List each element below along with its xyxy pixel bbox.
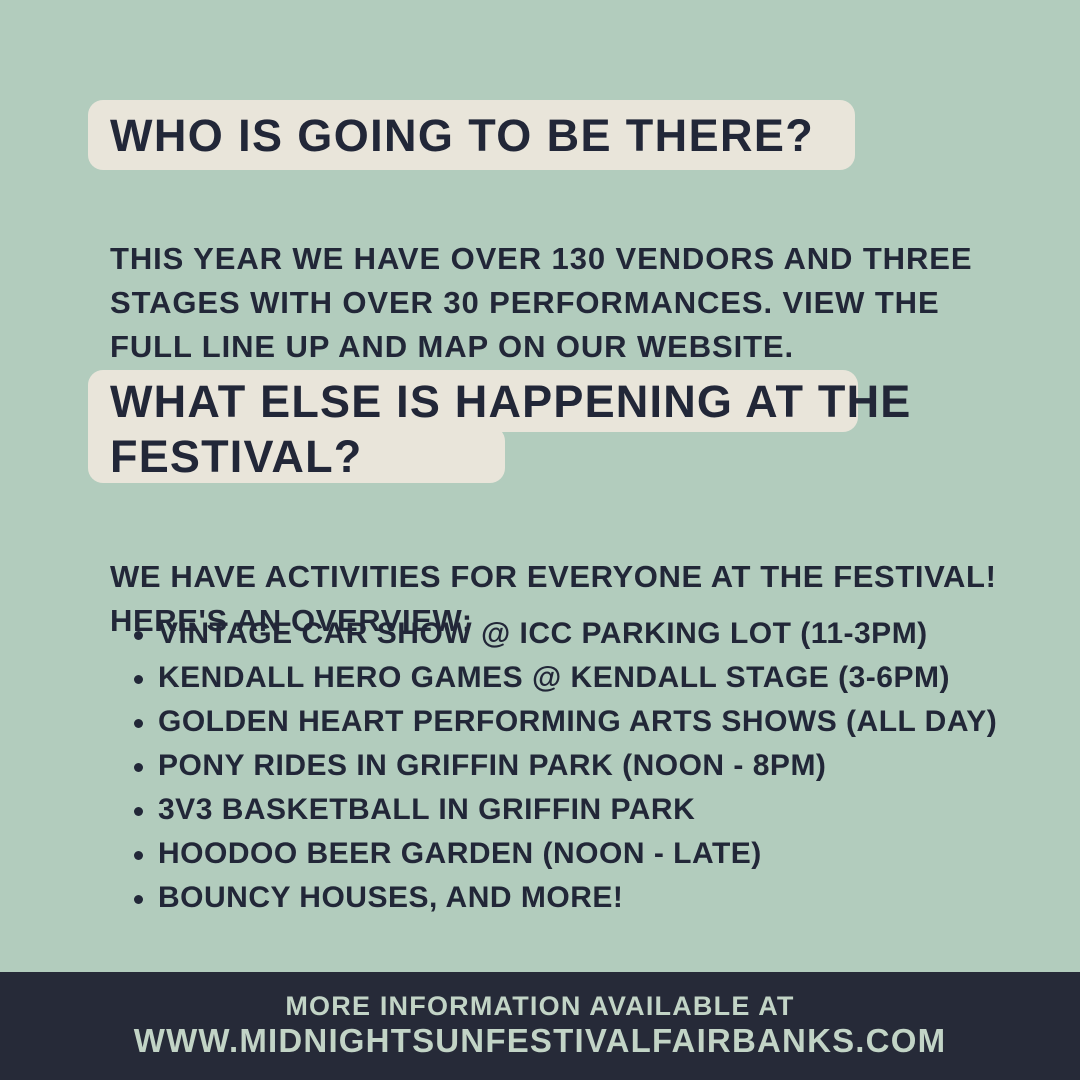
section-two-heading: WHAT ELSE IS HAPPENING AT THE FESTIVAL? xyxy=(110,374,950,484)
section-two-heading-highlight: WHAT ELSE IS HAPPENING AT THE FESTIVAL? xyxy=(88,370,868,486)
bullet-dot-icon xyxy=(134,851,143,860)
section-one-heading-highlight: WHO IS GOING TO BE THERE? xyxy=(88,100,855,170)
activities-list: VINTAGE CAR SHOW @ ICC PARKING LOT (11-3… xyxy=(130,612,1060,920)
list-item: GOLDEN HEART PERFORMING ARTS SHOWS (ALL … xyxy=(130,700,1060,744)
list-item-label: KENDALL HERO GAMES @ KENDALL STAGE (3-6P… xyxy=(158,661,950,694)
footer-website-url: WWW.MIDNIGHTSUNFESTIVALFAIRBANKS.COM xyxy=(134,1022,947,1061)
bullet-dot-icon xyxy=(134,895,143,904)
list-item: 3V3 BASKETBALL IN GRIFFIN PARK xyxy=(130,788,1060,832)
list-item-label: VINTAGE CAR SHOW @ ICC PARKING LOT (11-3… xyxy=(158,617,928,650)
section-one-heading: WHO IS GOING TO BE THERE? xyxy=(110,113,814,158)
list-item-label: GOLDEN HEART PERFORMING ARTS SHOWS (ALL … xyxy=(158,705,997,738)
poster-canvas: WHO IS GOING TO BE THERE? THIS YEAR WE H… xyxy=(0,0,1080,1080)
list-item-label: PONY RIDES IN GRIFFIN PARK (NOON - 8PM) xyxy=(158,749,826,782)
bullet-dot-icon xyxy=(134,719,143,728)
section-one-paragraph: THIS YEAR WE HAVE OVER 130 VENDORS AND T… xyxy=(110,237,990,369)
bullet-dot-icon xyxy=(134,675,143,684)
list-item: HOODOO BEER GARDEN (NOON - LATE) xyxy=(130,832,1060,876)
list-item: KENDALL HERO GAMES @ KENDALL STAGE (3-6P… xyxy=(130,656,1060,700)
list-item-label: 3V3 BASKETBALL IN GRIFFIN PARK xyxy=(158,793,695,826)
footer-bar: MORE INFORMATION AVAILABLE AT WWW.MIDNIG… xyxy=(0,972,1080,1080)
bullet-dot-icon xyxy=(134,631,143,640)
bullet-dot-icon xyxy=(134,807,143,816)
list-item: BOUNCY HOUSES, AND MORE! xyxy=(130,876,1060,920)
list-item: PONY RIDES IN GRIFFIN PARK (NOON - 8PM) xyxy=(130,744,1060,788)
footer-info-text: MORE INFORMATION AVAILABLE AT xyxy=(285,991,794,1023)
list-item-label: HOODOO BEER GARDEN (NOON - LATE) xyxy=(158,837,762,870)
list-item: VINTAGE CAR SHOW @ ICC PARKING LOT (11-3… xyxy=(130,612,1060,656)
list-item-label: BOUNCY HOUSES, AND MORE! xyxy=(158,881,623,914)
bullet-dot-icon xyxy=(134,763,143,772)
